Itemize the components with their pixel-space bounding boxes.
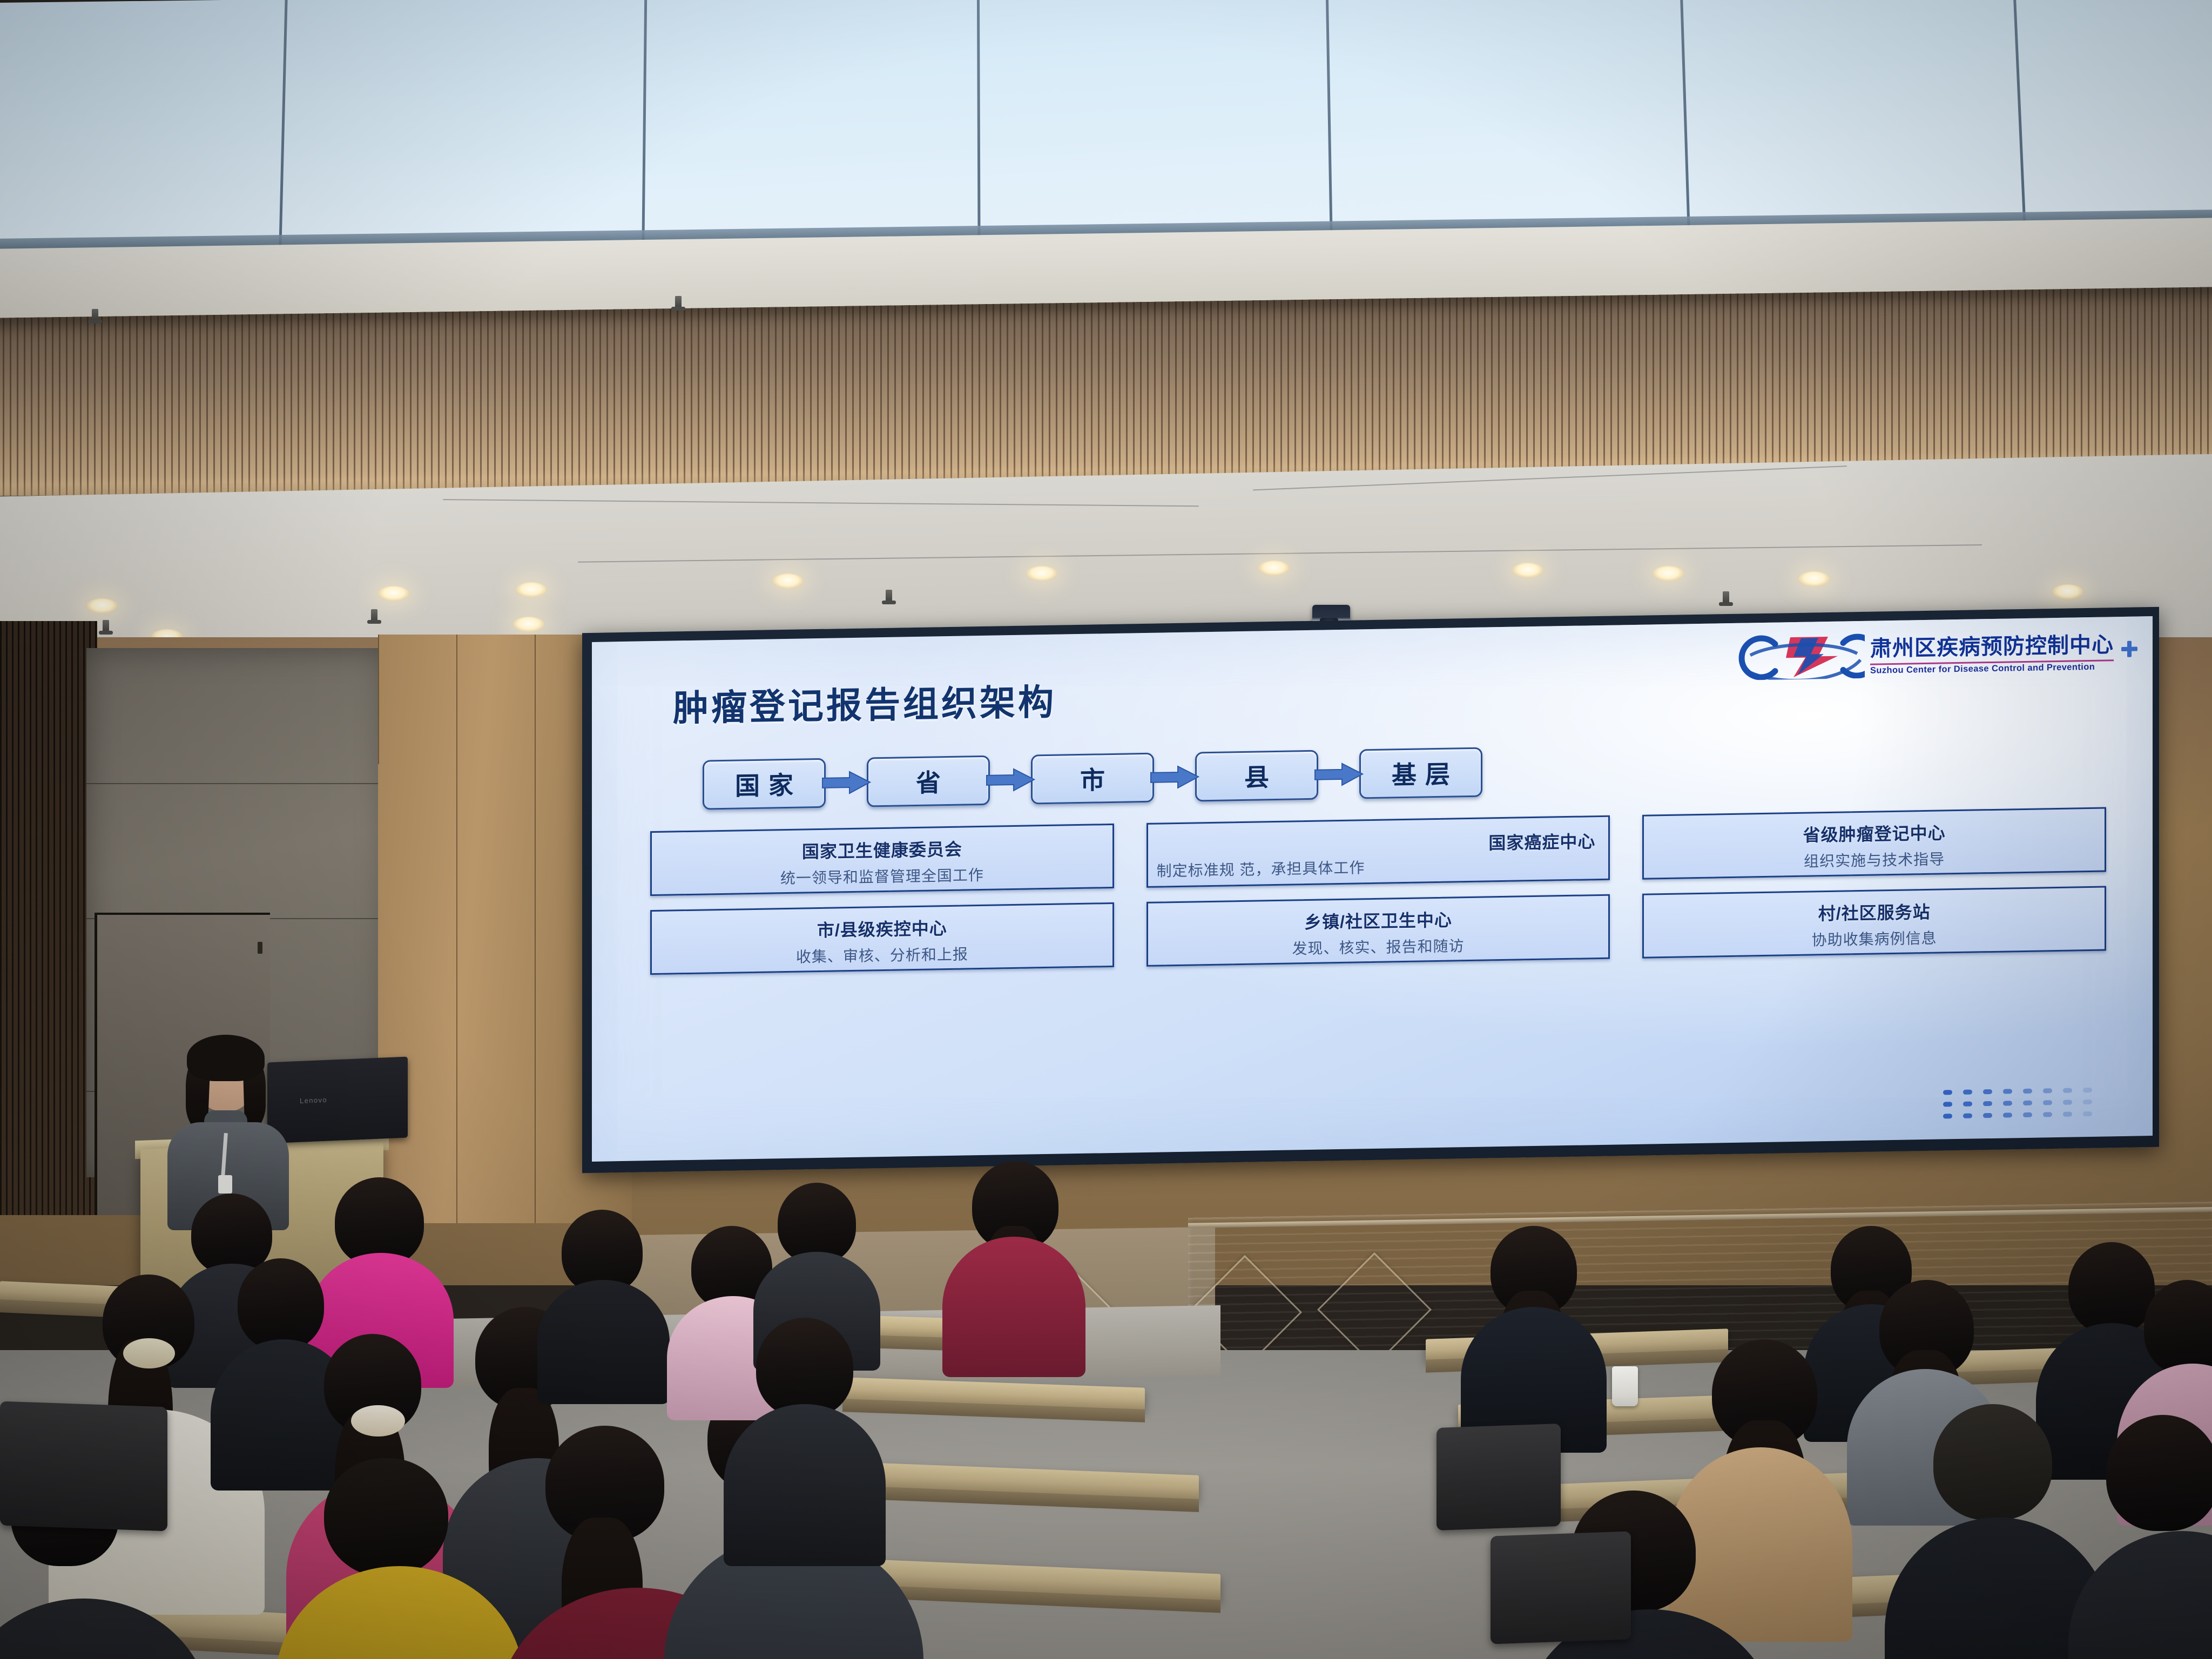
ceiling-downlight [2052,584,2083,599]
chair [0,1401,167,1532]
pipeline-step: 国家 [703,758,826,810]
cdc-logo-mark [1737,629,1865,680]
chair [1491,1531,1631,1644]
lecture-hall-photo: 肿瘤登记报告组织架构 [0,0,2212,1659]
medical-cross-icon [2121,641,2137,657]
ceiling-downlight [378,586,409,601]
org-box: 省级肿瘤登记中心 组织实施与技术指导 [1642,807,2106,879]
arrow-right-icon [1313,761,1365,787]
presenter-badge [218,1175,232,1193]
org-box: 市/县级疾控中心 收集、审核、分析和上报 [650,902,1114,975]
projection-screen[interactable]: 肿瘤登记报告组织架构 [592,616,2153,1162]
sprinkler-head [886,590,892,604]
arrow-right-icon [984,767,1036,793]
ceiling-downlight [1258,561,1290,576]
laptop-brand-label: Lenovo [300,1096,327,1105]
ceiling-downlight [772,574,804,589]
slide-title: 肿瘤登记报告组织架构 [673,673,1056,732]
ceiling-downlight [516,582,547,597]
arrow-right-icon [820,770,872,795]
org-box-title: 村/社区服务站 [1653,896,2096,928]
slide-dot-decoration [1943,1088,2092,1119]
org-box-title: 国家癌症中心 [1157,828,1600,860]
org-box-title: 国家卫生健康委员会 [660,833,1104,866]
org-box-sub: 制定标准规 范，承担具体工作 [1157,856,1600,879]
cdc-logo-name: 肃州区疾病预防控制中心 Suzhou Center for Disease Co… [1870,627,2114,676]
sprinkler-head [92,309,98,323]
org-detail-grid: 国家卫生健康委员会 统一领导和监督管理全国工作 国家癌症中心 制定标准规 范，承… [650,807,2106,989]
org-level-pipeline: 国家 省 市 县 基层 [703,747,1482,810]
org-box-title: 市/县级疾控中心 [660,912,1104,945]
org-box-sub: 收集、审核、分析和上报 [660,940,1104,969]
org-box-sub: 发现、核实、报告和随访 [1157,932,1600,961]
pipeline-step: 省 [867,756,990,807]
org-box-sub: 协助收集病例信息 [1653,924,2096,953]
sprinkler-head [103,620,109,634]
ceiling-downlight [86,598,118,613]
org-box: 国家癌症中心 制定标准规 范，承担具体工作 [1147,815,1610,888]
presenter-hair-top [187,1035,265,1081]
sprinkler-head [371,609,377,623]
cdc-logo-name-cn: 肃州区疾病预防控制中心 [1870,627,2114,662]
pipeline-step: 市 [1031,753,1154,805]
chair [1437,1424,1561,1530]
cdc-logo: 肃州区疾病预防控制中心 Suzhou Center for Disease Co… [1737,624,2137,680]
sprinkler-head [675,296,682,310]
org-box-title: 省级肿瘤登记中心 [1653,817,2096,849]
org-box: 国家卫生健康委员会 统一领导和监督管理全国工作 [650,824,1114,896]
pipeline-step: 基层 [1359,747,1482,799]
ceiling-downlight [1653,566,1684,581]
ceiling-downlight [1026,566,1057,581]
ceiling-downlight [1512,563,1543,578]
org-box: 乡镇/社区卫生中心 发现、核实、报告和随访 [1147,894,1610,967]
ceiling-downlight [513,617,544,632]
pipeline-step: 县 [1195,750,1318,802]
ceiling-downlight [1798,571,1830,586]
org-box: 村/社区服务站 协助收集病例信息 [1642,886,2106,958]
dark-slat-wall [0,621,97,1215]
org-box-title: 乡镇/社区卫生中心 [1157,904,1600,936]
paper-cup [1612,1366,1638,1406]
arrow-right-icon [1149,764,1201,790]
sprinkler-head [1723,591,1729,605]
org-box-sub: 组织实施与技术指导 [1653,845,2096,874]
org-box-sub: 统一领导和监督管理全国工作 [660,861,1104,891]
